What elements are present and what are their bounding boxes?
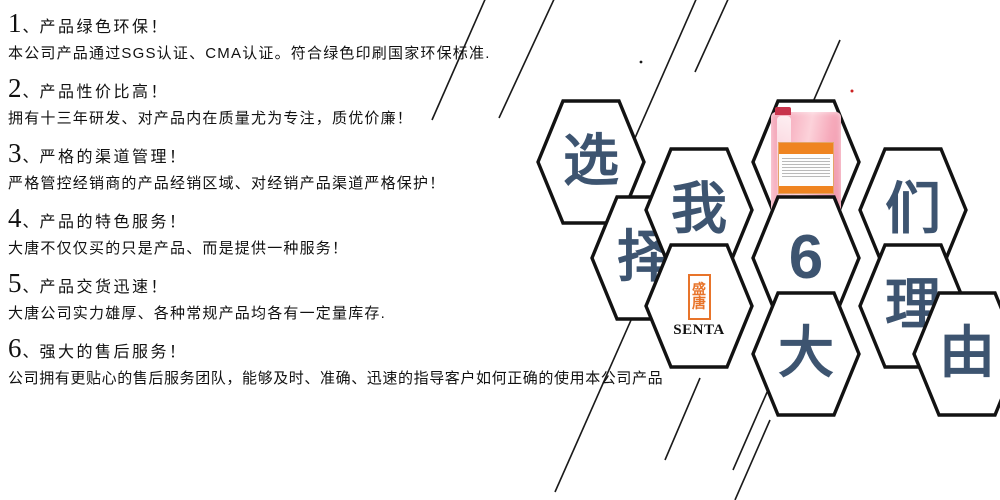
brand-seal-char-bottom: 唐 [692,297,706,311]
reason-number: 4 [8,203,22,233]
reason-title: 强大的售后服务！ [40,338,188,368]
reason-description: 大唐不仅仅买的只是产品、而是提供一种服务！ [8,236,648,262]
brand-wordmark: SENTA [673,322,724,339]
reason-separator: 、 [23,338,39,368]
reason-title: 产品的特色服务！ [40,208,188,238]
reason-number: 3 [8,138,22,168]
brand-seal-char-top: 盛 [692,283,706,297]
reason-title: 产品性价比高！ [40,78,170,108]
hexagon-label: 由 [911,290,1000,418]
product-label-body [779,154,833,181]
reason-separator: 、 [23,78,39,108]
hexagon-label: 大 [750,290,862,418]
hexagon-brand-logo[interactable]: 盛 唐 SENTA [643,242,755,370]
reason-description: 大唐公司实力雄厚、各种常规产品均各有一定量库存. [8,301,648,327]
reason-separator: 、 [23,273,39,303]
reason-number: 1 [8,8,22,38]
reason-number: 2 [8,73,22,103]
product-label [778,142,834,194]
jerrycan-cap-icon [775,107,791,115]
reason-title: 产品绿色环保！ [40,13,170,43]
brand-logo: 盛 唐 SENTA [643,242,755,370]
reason-number: 5 [8,268,22,298]
hexagon-reason-second[interactable]: 由 [911,290,1000,418]
reason-heading: 1 、 产品绿色环保！ [8,8,648,43]
reason-item: 1 、 产品绿色环保！ 本公司产品通过SGS认证、CMA认证。符合绿色印刷国家环… [8,8,648,67]
reason-description: 本公司产品通过SGS认证、CMA认证。符合绿色印刷国家环保标准. [8,41,648,67]
hexagon-big[interactable]: 大 [750,290,862,418]
reason-title: 严格的渠道管理！ [40,143,188,173]
reason-number: 6 [8,333,22,363]
reason-separator: 、 [23,208,39,238]
product-label-header [779,143,833,154]
promo-page: 1 、 产品绿色环保！ 本公司产品通过SGS认证、CMA认证。符合绿色印刷国家环… [0,0,1000,500]
reason-separator: 、 [23,13,39,43]
reason-separator: 、 [23,143,39,173]
product-label-footer [779,186,833,193]
reason-item: 5 、 产品交货迅速！ 大唐公司实力雄厚、各种常规产品均各有一定量库存. [8,268,648,327]
reason-heading: 5 、 产品交货迅速！ [8,268,648,303]
reason-title: 产品交货迅速！ [40,273,170,303]
brand-seal-icon: 盛 唐 [688,274,711,320]
